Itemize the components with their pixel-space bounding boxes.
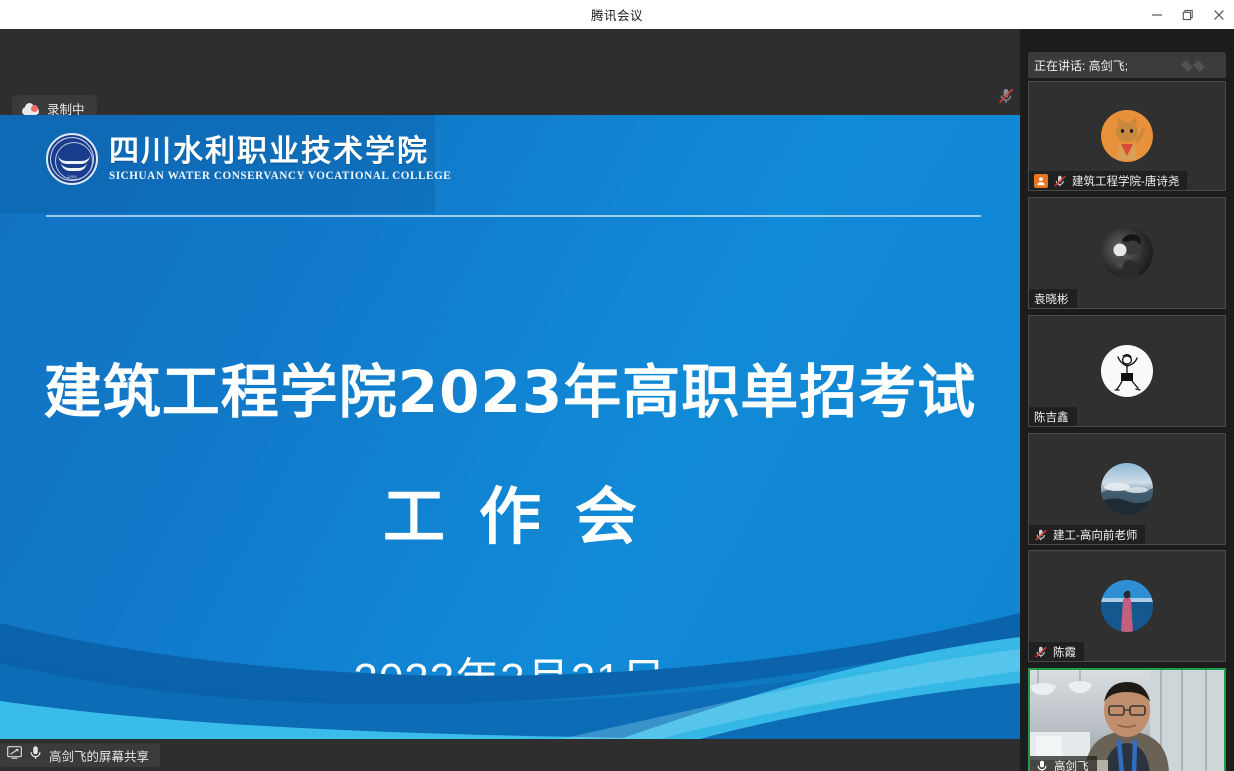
participant-tile[interactable]: 陈吉鑫 [1028, 315, 1226, 427]
participant-name: 袁晓彬 [1034, 291, 1069, 307]
participant-name: 建筑工程学院-唐诗尧 [1072, 173, 1179, 189]
screen-share-icon [7, 746, 22, 764]
participant-name: 陈吉鑫 [1034, 409, 1069, 425]
participant-nameplate: 建工-高向前老师 [1029, 525, 1145, 544]
participant-tile[interactable]: 陈霞 [1028, 550, 1226, 662]
screen-share-region: 录制中 [0, 29, 1020, 771]
slide-wave-decoration [0, 579, 1020, 739]
speaking-indicator: 正在讲话: 高剑飞; [1028, 52, 1226, 78]
mic-muted-icon [1053, 174, 1067, 188]
avatar [1101, 463, 1153, 515]
share-topbar: 录制中 [0, 29, 1020, 115]
participant-name: 陈霞 [1053, 644, 1076, 660]
participant-tile-active-speaker[interactable]: 高剑飞 [1028, 668, 1226, 771]
participant-tile[interactable]: 建工-高向前老师 [1028, 433, 1226, 545]
mic-on-icon [1035, 759, 1049, 771]
participant-nameplate: 袁晓彬 [1029, 289, 1077, 308]
seal-year: 1956 [48, 174, 96, 179]
participant-nameplate: 陈霞 [1029, 642, 1084, 661]
meeting-body: 录制中 [0, 29, 1234, 771]
restore-button[interactable] [1172, 0, 1203, 29]
screen-share-status: 高剑飞的屏幕共享 [0, 743, 160, 767]
screen-share-label: 高剑飞的屏幕共享 [49, 746, 149, 765]
slide-header-rule [46, 215, 981, 217]
participant-tile[interactable]: 袁晓彬 [1028, 197, 1226, 309]
mic-muted-icon[interactable] [996, 86, 1016, 106]
college-name-en: SICHUAN WATER CONSERVANCY VOCATIONAL COL… [109, 170, 451, 182]
tencent-meeting-logo-icon [1176, 57, 1220, 74]
titlebar: 腾讯会议 [0, 0, 1234, 29]
presentation-slide: 1956 四川水利职业技术学院 SICHUAN WATER CONSERVANC… [0, 115, 1020, 739]
minimize-button[interactable] [1141, 0, 1172, 29]
share-bottom-bar: 高剑飞的屏幕共享 [0, 739, 1020, 771]
mic-muted-icon [1034, 528, 1048, 542]
avatar [1101, 580, 1153, 632]
slide-title: 建筑工程学院2023年高职单招考试 [0, 363, 1020, 421]
mic-muted-icon [1034, 645, 1048, 659]
participant-name: 建工-高向前老师 [1053, 527, 1137, 543]
college-logo: 1956 四川水利职业技术学院 SICHUAN WATER CONSERVANC… [46, 133, 451, 185]
close-button[interactable] [1203, 0, 1234, 29]
college-logo-text: 四川水利职业技术学院 SICHUAN WATER CONSERVANCY VOC… [109, 136, 451, 183]
avatar [1101, 227, 1153, 279]
window-title: 腾讯会议 [591, 5, 643, 24]
college-seal-icon: 1956 [46, 133, 98, 185]
participant-nameplate: 高剑飞 [1030, 756, 1097, 771]
tencent-meeting-window: 腾讯会议 [0, 0, 1234, 771]
cloud-record-icon [22, 103, 39, 115]
mic-on-icon [29, 745, 42, 765]
participant-nameplate: 建筑工程学院-唐诗尧 [1029, 171, 1187, 190]
speaking-label: 正在讲话: 高剑飞; [1034, 57, 1128, 74]
window-controls [1141, 0, 1234, 29]
avatar [1101, 110, 1153, 162]
participant-tile[interactable]: 建筑工程学院-唐诗尧 [1028, 81, 1226, 191]
participant-name: 高剑飞 [1054, 758, 1089, 771]
avatar [1101, 345, 1153, 397]
participant-panel: 正在讲话: 高剑飞; [1020, 29, 1234, 771]
host-badge-icon [1034, 174, 1048, 188]
college-name-cn: 四川水利职业技术学院 [109, 136, 451, 168]
participant-nameplate: 陈吉鑫 [1029, 407, 1077, 426]
slide-subtitle: 工作会 [0, 483, 1020, 551]
